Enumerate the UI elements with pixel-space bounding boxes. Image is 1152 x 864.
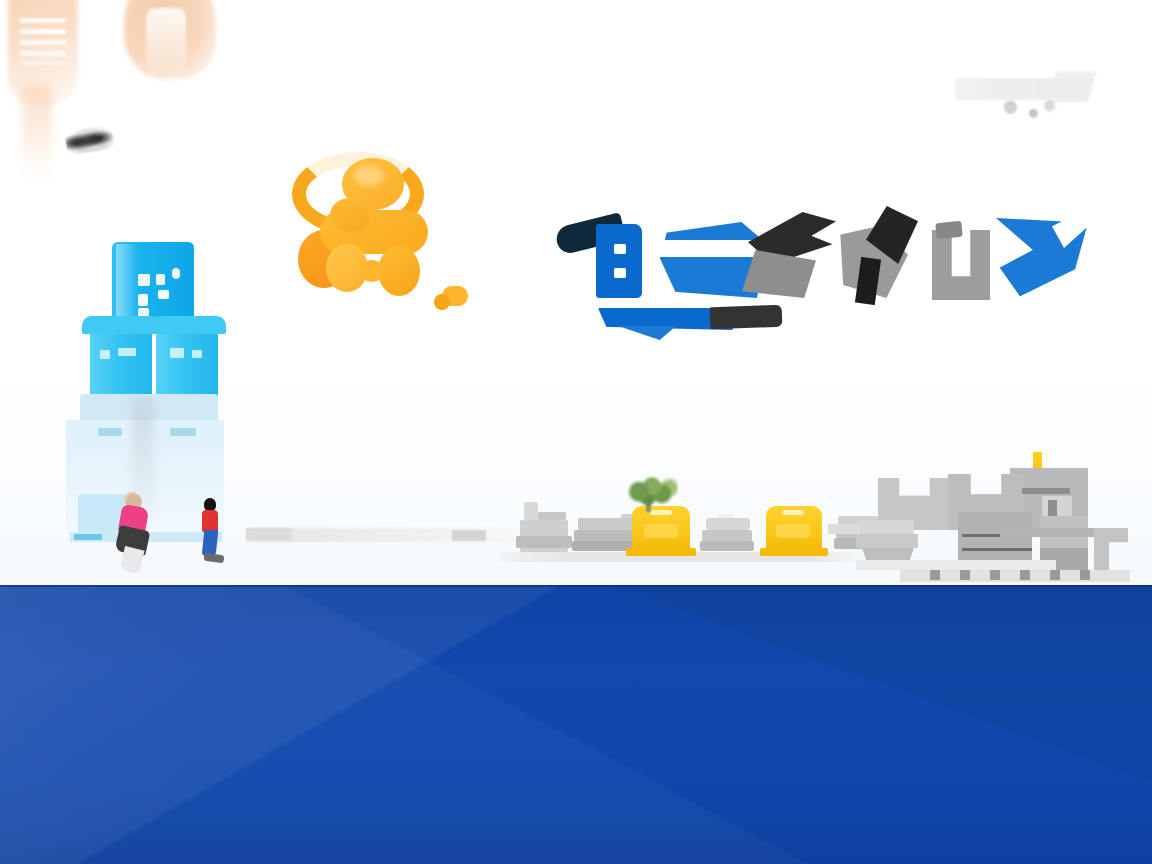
gray-dots-top-right-icon xyxy=(995,96,1065,124)
equipment-gray-base-icon xyxy=(516,536,572,548)
tower-pod-window-icon xyxy=(192,350,202,358)
tower-pod-cap-right-icon xyxy=(148,316,226,334)
tower-highlight-icon xyxy=(116,244,138,326)
orange-blob-part-icon xyxy=(360,260,384,282)
tower-base-notch-icon xyxy=(98,428,122,436)
equipment-gray-unit-icon xyxy=(574,530,634,541)
equipment-yellow-base-icon xyxy=(626,548,696,556)
caption-band-top-edge xyxy=(0,585,1152,587)
faint-gray-block-icon xyxy=(452,530,486,541)
equipment-yellow-base-icon xyxy=(760,548,828,556)
figure-red-body-icon xyxy=(202,510,218,532)
tower-pod-window-icon xyxy=(118,348,136,356)
factory-side-block-icon xyxy=(862,548,914,560)
tower-window-icon xyxy=(156,274,165,285)
factory-side-block-icon xyxy=(860,520,914,534)
faint-gray-band-icon xyxy=(250,528,550,542)
equipment-yellow-panel-icon xyxy=(776,524,810,538)
peach-shape-stripes-icon xyxy=(20,18,66,64)
factory-stripe-icon xyxy=(962,548,1032,551)
equipment-gray-unit-icon xyxy=(706,518,750,530)
logotype-underbar-dark-icon xyxy=(710,305,783,329)
tower-window-icon xyxy=(138,294,148,306)
slide-root: Ery w vrly sastrịcı opprrrarar Aspt vcw … xyxy=(0,0,1152,864)
factory-ledge-icon xyxy=(1022,488,1070,494)
peach-blob-inner-icon xyxy=(146,8,186,80)
equipment-gray-base-icon xyxy=(700,541,754,551)
dark-smudge-icon xyxy=(65,125,116,155)
logotype-underbar-tail-icon xyxy=(618,326,676,340)
factory-legs-icon xyxy=(930,570,1110,580)
orange-blob-shape xyxy=(292,152,492,352)
logotype-letter-b-icon xyxy=(596,224,642,298)
factory-side-block-icon xyxy=(828,524,864,534)
factory-shelf-icon xyxy=(1094,528,1128,570)
tower-pod-window-icon xyxy=(100,350,110,359)
orange-blob-part-icon xyxy=(378,246,420,296)
tower-window-icon xyxy=(158,290,169,299)
orange-blob-tail-icon xyxy=(434,294,450,310)
tower-window-icon xyxy=(172,268,180,279)
small-tree-icon xyxy=(624,474,678,508)
peach-shape-stem-icon xyxy=(22,84,52,180)
illustration-canvas xyxy=(0,0,1152,585)
caption-band: Ery w vrly sastrịcı opprrrarar Aspt vcw … xyxy=(0,585,1152,864)
tower-ground-rail-accent-icon xyxy=(74,534,102,540)
tower-window-icon xyxy=(138,274,150,286)
logotype-letter-u-icon xyxy=(932,230,990,300)
equipment-gray-unit-icon xyxy=(702,530,752,541)
faint-gray-block-icon xyxy=(246,528,292,541)
orange-blob-highlight-icon xyxy=(354,166,384,186)
factory-window-icon xyxy=(1042,496,1072,518)
equipment-yellow-slot-icon xyxy=(782,510,804,515)
logotype-letter-hole-icon xyxy=(614,244,626,254)
logotype-letter-hole-icon xyxy=(614,268,626,278)
figure-red-legs-icon xyxy=(202,530,219,556)
factory-side-block-icon xyxy=(856,534,918,548)
tower-pod-window-icon xyxy=(170,348,184,358)
equipment-yellow-slot-icon xyxy=(650,510,672,515)
factory-ground-icon xyxy=(856,560,1056,570)
equipment-yellow-panel-icon xyxy=(644,524,678,538)
equipment-gray-unit-icon xyxy=(578,518,632,530)
logotype-gray-shard-icon xyxy=(742,250,816,298)
tower-base-notch-icon xyxy=(170,428,196,436)
factory-shelf-icon xyxy=(1000,528,1106,537)
logotype-gray-cap-icon xyxy=(935,221,963,240)
